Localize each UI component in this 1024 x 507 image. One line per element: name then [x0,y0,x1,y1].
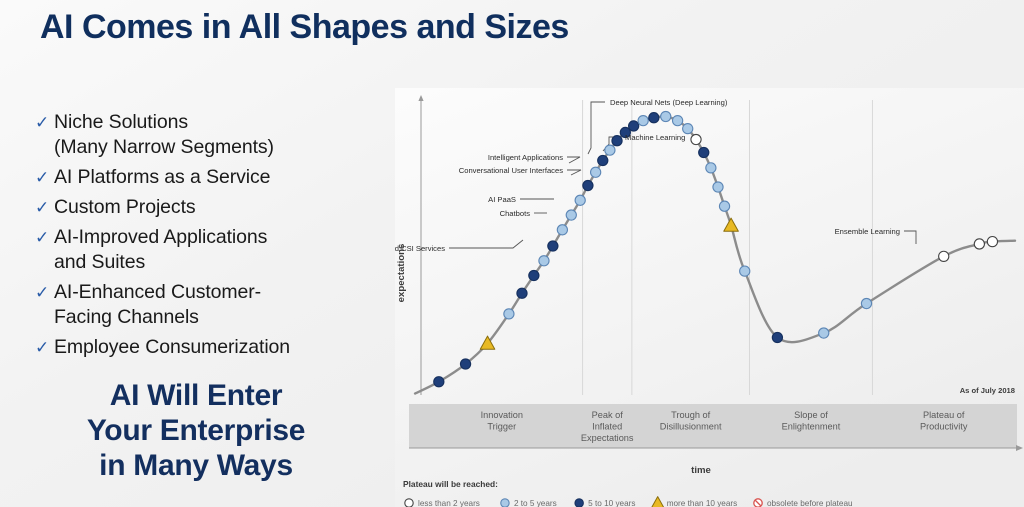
data-point-light-circle [713,182,723,192]
phase-label: Trough of [671,410,710,420]
list-item-label: AI Platforms as a Service [54,165,270,190]
list-item: ✓ Employee Consumerization [32,335,372,360]
data-point-white-circle [974,239,984,249]
list-item: ✓ Custom Projects [32,195,372,220]
data-point-dark-circle [612,136,622,146]
data-point-light-circle [638,116,648,126]
slide-root: AI Comes in All Shapes and Sizes ✓ Niche… [0,0,1024,507]
checkmark-icon: ✓ [32,195,54,220]
data-point-dark-circle [460,359,470,369]
checkmark-icon: ✓ [32,165,54,190]
list-item-label: AI-Improved Applicationsand Suites [54,225,267,275]
data-point-dark-circle [575,499,583,507]
data-point-light-circle [673,116,683,126]
subheadline-line: in Many Ways [22,448,370,483]
annotation-label: Intelligent Applications [488,153,563,162]
data-point-light-circle [661,111,671,121]
subheadline-line: AI Will Enter [22,378,370,413]
data-point-light-circle [591,167,601,177]
bullet-list: ✓ Niche Solutions(Many Narrow Segments) … [32,110,372,365]
legend-item-label: less than 2 years [418,499,480,507]
data-point-light-circle [605,145,615,155]
data-point-light-circle [575,195,585,205]
checkmark-icon: ✓ [32,335,54,360]
data-point-light-circle [566,210,576,220]
data-point-light-circle [557,225,567,235]
list-item-label: Custom Projects [54,195,196,220]
data-point-light-circle [706,163,716,173]
data-point-dark-circle [772,332,782,342]
as-of-date: As of July 2018 [960,386,1015,395]
data-point-white-circle [987,237,997,247]
data-point-light-circle [539,256,549,266]
page-title: AI Comes in All Shapes and Sizes [40,8,569,47]
annotation-label: Machine Learning [625,133,685,142]
annotation-label: AI PaaS [488,195,516,204]
data-point-light-circle [819,328,829,338]
list-item-label: AI-Enhanced Customer-Facing Channels [54,280,261,330]
annotation-label: Conversational User Interfaces [459,166,563,175]
phase-label: Peak of [592,410,624,420]
annotation-label: Chatbots [500,209,531,218]
legend-item-label: 2 to 5 years [514,499,557,507]
data-point-dark-circle [548,241,558,251]
data-point-light-circle [719,201,729,211]
data-point-white-circle [405,499,413,507]
list-item-label: Employee Consumerization [54,335,290,360]
phase-label: Inflated [592,422,622,432]
chart-canvas: Deep Neural Nets (Deep Learning)Machine … [395,88,1024,507]
x-axis-label: time [691,465,711,476]
legend-item-label: obsolete before plateau [767,499,853,507]
legend-title: Plateau will be reached: [403,479,498,489]
data-point-dark-circle [649,113,659,123]
checkmark-icon: ✓ [32,225,54,250]
list-item: ✓ Niche Solutions(Many Narrow Segments) [32,110,372,160]
subheadline-line: Your Enterprise [22,413,370,448]
legend-item-label: more than 10 years [667,499,738,507]
phase-label: Disillusionment [660,422,722,432]
data-point-light-circle [501,499,509,507]
data-point-dark-circle [583,180,593,190]
data-point-white-circle [691,134,701,144]
data-point-dark-circle [517,288,527,298]
phase-label: Trigger [487,422,516,432]
annotation-label: Ensemble Learning [835,227,900,236]
data-point-dark-circle [434,377,444,387]
phase-label: Productivity [920,422,968,432]
phase-label: Slope of [794,410,828,420]
data-point-dark-circle [629,121,639,131]
data-point-dark-circle [529,270,539,280]
hype-cycle-chart: Deep Neural Nets (Deep Learning)Machine … [395,88,1024,507]
data-point-white-circle [939,251,949,261]
legend-item: obsolete before plateau [754,499,853,507]
data-point-dark-circle [699,147,709,157]
phase-label: Enlightenment [782,422,841,432]
legend-item-label: 5 to 10 years [588,499,635,507]
phase-label: Plateau of [923,410,965,420]
data-point-light-circle [740,266,750,276]
checkmark-icon: ✓ [32,280,54,305]
annotation-label: Deep Neural Nets (Deep Learning) [610,98,728,107]
data-point-light-circle [504,309,514,319]
list-item: ✓ AI-Improved Applicationsand Suites [32,225,372,275]
data-point-dark-circle [598,155,608,165]
data-point-light-circle [861,298,871,308]
phase-label: Innovation [481,410,523,420]
y-axis-label: expectations [396,244,407,303]
subheadline: AI Will Enter Your Enterprise in Many Wa… [22,378,370,483]
list-item: ✓ AI Platforms as a Service [32,165,372,190]
checkmark-icon: ✓ [32,110,54,135]
phase-label: Expectations [581,433,634,443]
list-item-label: Niche Solutions(Many Narrow Segments) [54,110,274,160]
list-item: ✓ AI-Enhanced Customer-Facing Channels [32,280,372,330]
